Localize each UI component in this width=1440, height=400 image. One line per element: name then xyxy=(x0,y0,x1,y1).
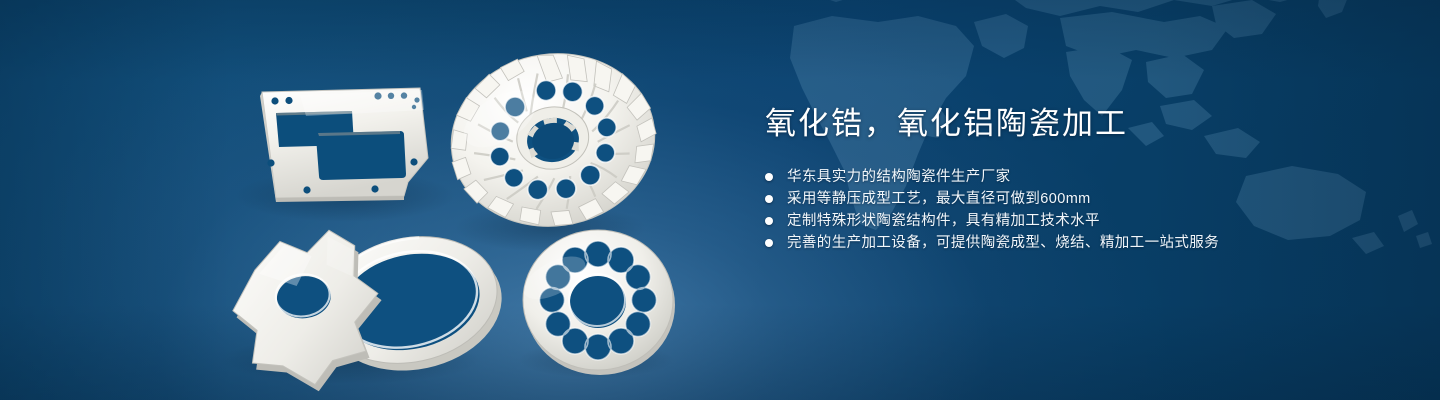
hero-banner: 氧化锆，氧化铝陶瓷加工 华东具实力的结构陶瓷件生产厂家 采用等静压成型工艺，最大… xyxy=(0,0,1440,400)
feature-item: 华东具实力的结构陶瓷件生产厂家 xyxy=(765,166,1385,188)
bullet-dot-icon xyxy=(765,217,773,225)
ceramic-plate-shape xyxy=(260,88,428,202)
bullet-dot-icon xyxy=(765,173,773,181)
feature-item-label: 完善的生产加工设备，可提供陶瓷成型、烧结、精加工一站式服务 xyxy=(787,232,1219,254)
feature-item: 定制特殊形状陶瓷结构件，具有精加工技术水平 xyxy=(765,210,1385,232)
feature-item-label: 华东具实力的结构陶瓷件生产厂家 xyxy=(787,166,1011,188)
ceramic-impeller-shape xyxy=(439,41,667,240)
feature-item-label: 定制特殊形状陶瓷结构件，具有精加工技术水平 xyxy=(787,210,1100,232)
product-photo-group xyxy=(0,0,720,400)
hero-headline: 氧化锆，氧化铝陶瓷加工 xyxy=(765,104,1385,143)
bullet-dot-icon xyxy=(765,239,773,247)
feature-list: 华东具实力的结构陶瓷件生产厂家 采用等静压成型工艺，最大直径可做到600mm 定… xyxy=(765,166,1385,254)
feature-item: 采用等静压成型工艺，最大直径可做到600mm xyxy=(765,188,1385,210)
bullet-dot-icon xyxy=(765,195,773,203)
feature-item: 完善的生产加工设备，可提供陶瓷成型、烧结、精加工一站式服务 xyxy=(765,232,1385,254)
hero-copy: 氧化锆，氧化铝陶瓷加工 华东具实力的结构陶瓷件生产厂家 采用等静压成型工艺，最大… xyxy=(765,104,1385,254)
feature-item-label: 采用等静压成型工艺，最大直径可做到600mm xyxy=(787,188,1091,210)
